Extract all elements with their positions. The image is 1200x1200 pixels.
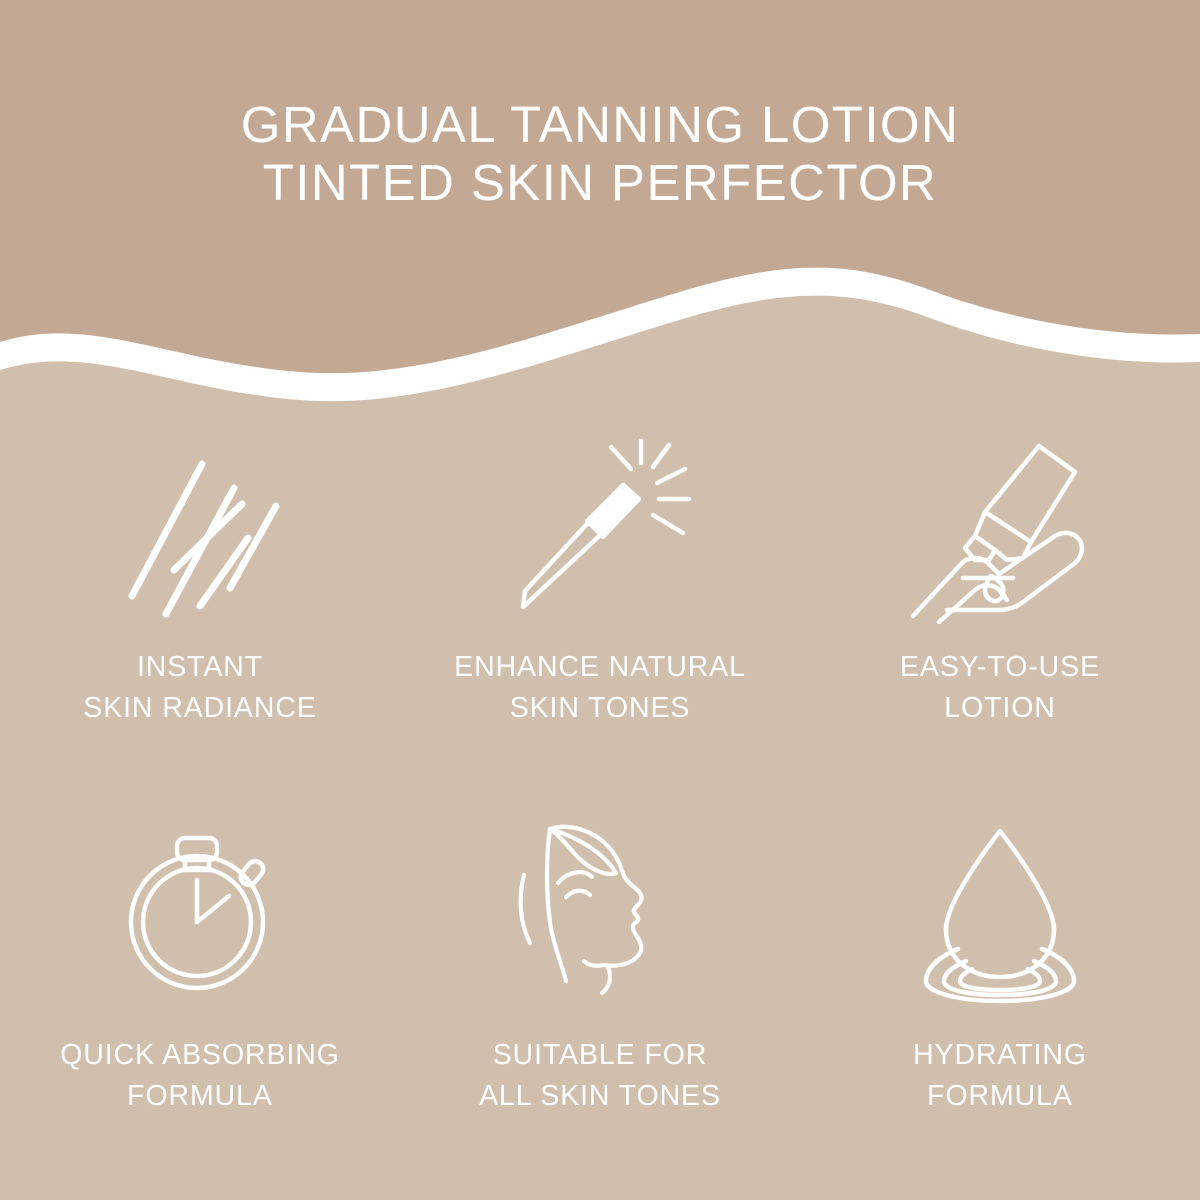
feature-label: SUITABLE FOR ALL SKIN TONES <box>479 1035 721 1117</box>
radiance-lines-icon <box>95 428 305 633</box>
title-line-1: GRADUAL TANNING LOTION <box>0 96 1200 154</box>
feature-label: EASY-TO-USE LOTION <box>900 647 1100 729</box>
feature-item-hydrating-formula: HYDRATING FORMULA <box>800 800 1200 1200</box>
feature-label: HYDRATING FORMULA <box>913 1035 1087 1117</box>
feature-item-suitable-all-skin-tones: SUITABLE FOR ALL SKIN TONES <box>400 800 800 1200</box>
feature-label: QUICK ABSORBING FORMULA <box>60 1035 340 1117</box>
stopwatch-icon <box>95 812 305 1007</box>
feature-grid: INSTANT SKIN RADIANCE <box>0 400 1200 1200</box>
page-title: GRADUAL TANNING LOTION TINTED SKIN PERFE… <box>0 96 1200 212</box>
feature-item-instant-skin-radiance: INSTANT SKIN RADIANCE <box>0 400 400 800</box>
feature-label: INSTANT SKIN RADIANCE <box>83 647 316 729</box>
feature-item-easy-to-use-lotion: EASY-TO-USE LOTION <box>800 400 1200 800</box>
title-line-2: TINTED SKIN PERFECTOR <box>0 154 1200 212</box>
magic-wand-icon <box>495 428 705 633</box>
feature-label: ENHANCE NATURAL SKIN TONES <box>454 647 746 729</box>
lotion-tube-hand-icon <box>895 428 1105 633</box>
water-droplet-ripple-icon <box>895 812 1105 1007</box>
feature-item-quick-absorbing-formula: QUICK ABSORBING FORMULA <box>0 800 400 1200</box>
feature-item-enhance-natural-skin-tones: ENHANCE NATURAL SKIN TONES <box>400 400 800 800</box>
infographic-page: GRADUAL TANNING LOTION TINTED SKIN PERFE… <box>0 0 1200 1200</box>
face-profile-icon <box>495 812 705 1007</box>
